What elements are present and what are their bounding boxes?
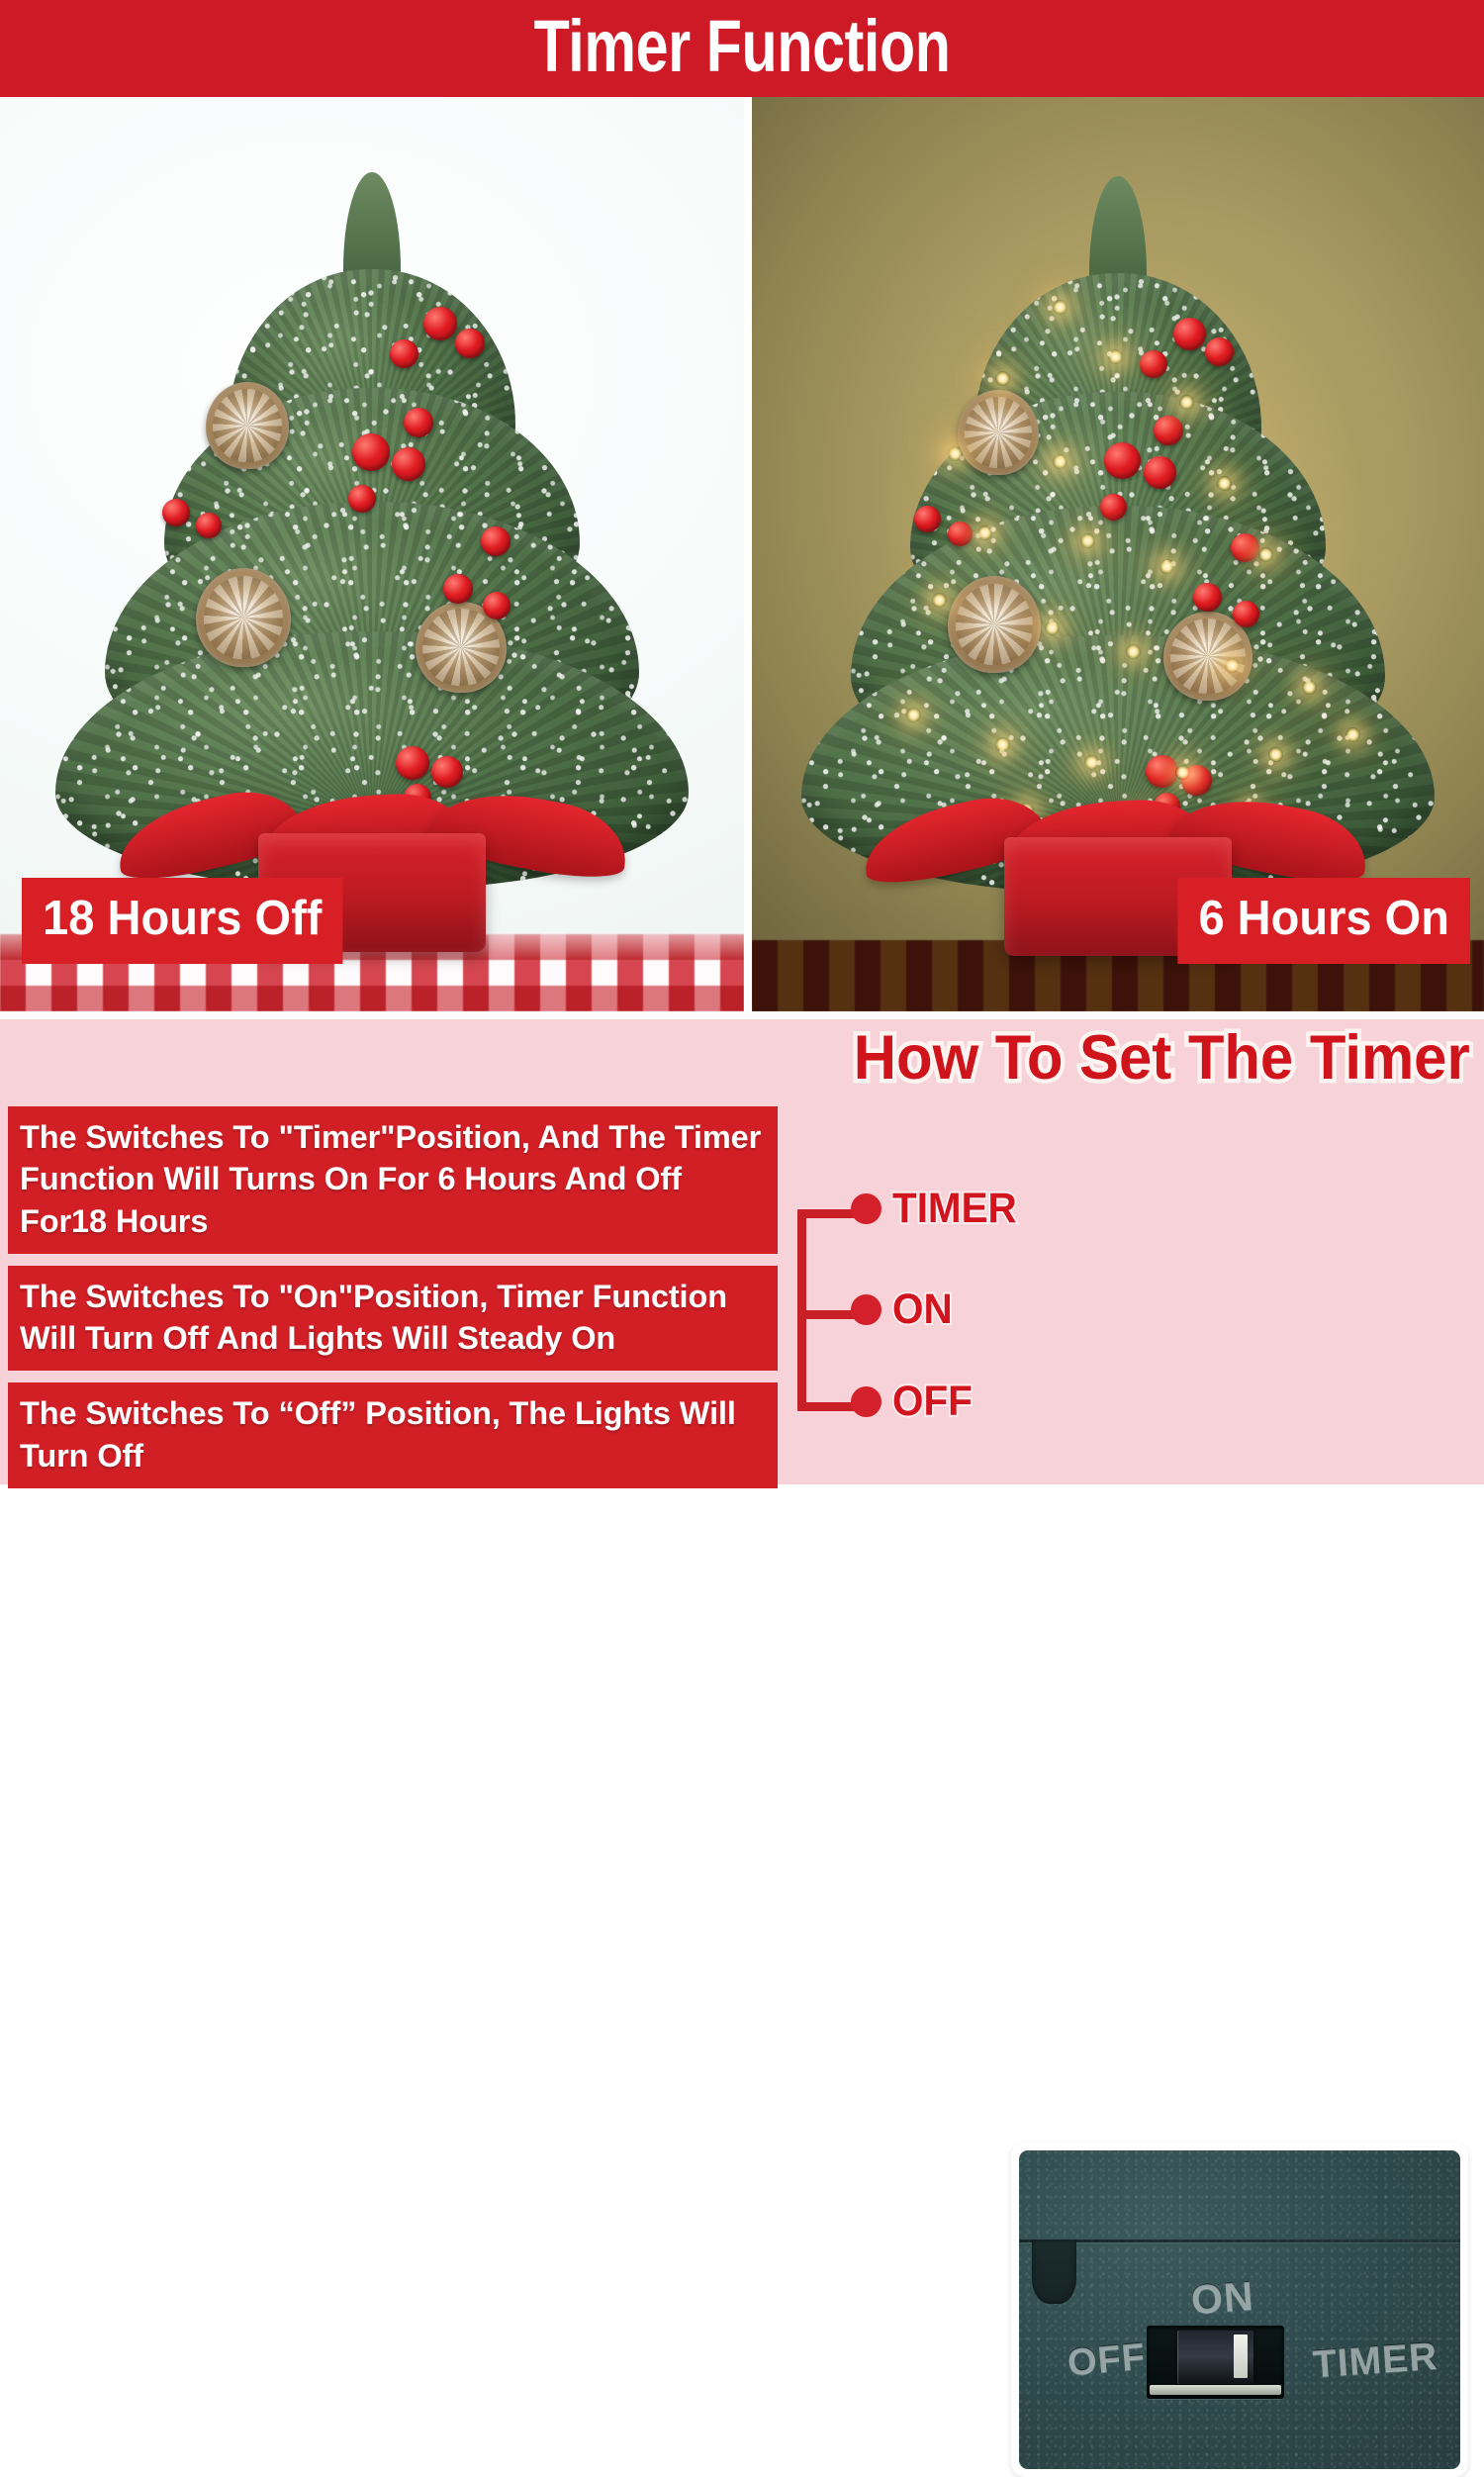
led-light <box>1053 454 1067 469</box>
caption-badge-on: 6 Hours On <box>1177 878 1470 964</box>
battery-box-photo: ON OFF TIMER <box>1019 2150 1460 2469</box>
red-berry <box>390 339 418 368</box>
led-light <box>995 737 1010 752</box>
switch-option-on: ON <box>851 1288 957 1331</box>
switch-option-label: TIMER <box>892 1188 1017 1230</box>
red-berry <box>196 513 222 538</box>
switch-photo-card: ON OFF TIMER <box>1011 2143 1468 2477</box>
led-light <box>1302 680 1317 695</box>
pine-cone <box>206 382 289 469</box>
led-light <box>948 446 963 461</box>
red-berry <box>443 574 473 604</box>
photo-lights-on: 6 Hours On <box>752 97 1484 1011</box>
led-light <box>1225 658 1240 673</box>
photo-lights-off: 18 Hours Off <box>0 97 744 1011</box>
page-title: Timer Function <box>534 10 951 83</box>
steps-list: The Switches To "Timer"Position, And The… <box>8 1106 778 1500</box>
embossed-off-label: OFF <box>1067 2338 1148 2383</box>
switch-option-timer: TIMER <box>851 1188 1025 1230</box>
pine-cone <box>958 390 1039 475</box>
slot-rail <box>1150 2385 1281 2395</box>
switch-position-bracket: TIMER ON OFF <box>791 1106 1011 1443</box>
red-berry <box>1205 337 1234 366</box>
switch-option-off: OFF <box>851 1381 977 1423</box>
embossed-timer-label: TIMER <box>1312 2337 1439 2385</box>
instructions-panel: How To Set The Timer The Switches To "Ti… <box>0 1019 1484 1484</box>
red-berry <box>162 499 190 526</box>
red-berry <box>483 592 510 619</box>
red-berry <box>1154 416 1183 445</box>
red-berry <box>1193 583 1222 612</box>
infographic-page: Timer Function <box>0 0 1484 1484</box>
led-light <box>1159 559 1174 574</box>
photo-comparison-row: 18 Hours Off <box>0 97 1484 1011</box>
red-berry <box>1231 533 1259 562</box>
led-light <box>1258 547 1273 562</box>
red-berry <box>1173 318 1206 350</box>
led-light <box>932 593 947 608</box>
bracket-stub <box>797 1209 859 1218</box>
led-light <box>1080 533 1095 548</box>
red-berry <box>455 329 485 358</box>
red-berry <box>1100 494 1127 521</box>
red-berry <box>1233 601 1259 627</box>
red-berry <box>348 485 376 513</box>
panel-title: How To Set The Timer <box>854 1027 1470 1090</box>
led-light <box>1108 349 1123 364</box>
bracket-stub <box>797 1402 859 1411</box>
bullet-dot-icon <box>851 1193 881 1224</box>
red-berry <box>1140 350 1167 378</box>
slide-switch-slot <box>1147 2326 1283 2399</box>
christmas-tree-off <box>55 160 689 952</box>
led-light <box>1345 727 1360 742</box>
led-light <box>995 371 1010 386</box>
slide-switch-knob[interactable] <box>1177 2331 1253 2385</box>
knob-highlight <box>1234 2334 1248 2378</box>
header-banner: Timer Function <box>0 0 1484 97</box>
red-berry <box>392 447 425 481</box>
battery-box-seam <box>1019 2239 1460 2242</box>
red-berry <box>423 307 457 340</box>
battery-door-tab <box>1032 2239 1076 2303</box>
led-light <box>906 708 921 722</box>
caption-badge-off: 18 Hours Off <box>22 878 343 964</box>
pine-cone <box>196 568 291 667</box>
led-light <box>1268 747 1283 762</box>
bracket-stub <box>797 1310 859 1319</box>
led-light <box>1126 644 1141 659</box>
switch-option-label: OFF <box>892 1381 973 1423</box>
step-item: The Switches To "Timer"Position, And The… <box>8 1106 778 1254</box>
led-light <box>977 525 992 540</box>
led-light <box>1217 476 1232 491</box>
red-berry <box>1104 442 1141 479</box>
red-berry <box>352 433 390 471</box>
red-berry <box>1144 456 1176 489</box>
step-item: The Switches To "On"Position, Timer Func… <box>8 1266 778 1372</box>
red-berry <box>481 526 510 556</box>
bullet-dot-icon <box>851 1386 881 1417</box>
led-light <box>1045 620 1060 635</box>
red-berry <box>914 506 941 532</box>
red-berry <box>404 408 433 437</box>
switch-option-label: ON <box>892 1288 953 1331</box>
led-light <box>1053 300 1067 315</box>
pine-cone <box>948 576 1041 673</box>
step-item: The Switches To “Off” Position, The Ligh… <box>8 1382 778 1488</box>
christmas-tree-on <box>811 174 1425 956</box>
led-light <box>1179 395 1194 410</box>
red-berry <box>948 522 973 546</box>
bullet-dot-icon <box>851 1294 881 1325</box>
embossed-on-label: ON <box>1190 2276 1255 2321</box>
